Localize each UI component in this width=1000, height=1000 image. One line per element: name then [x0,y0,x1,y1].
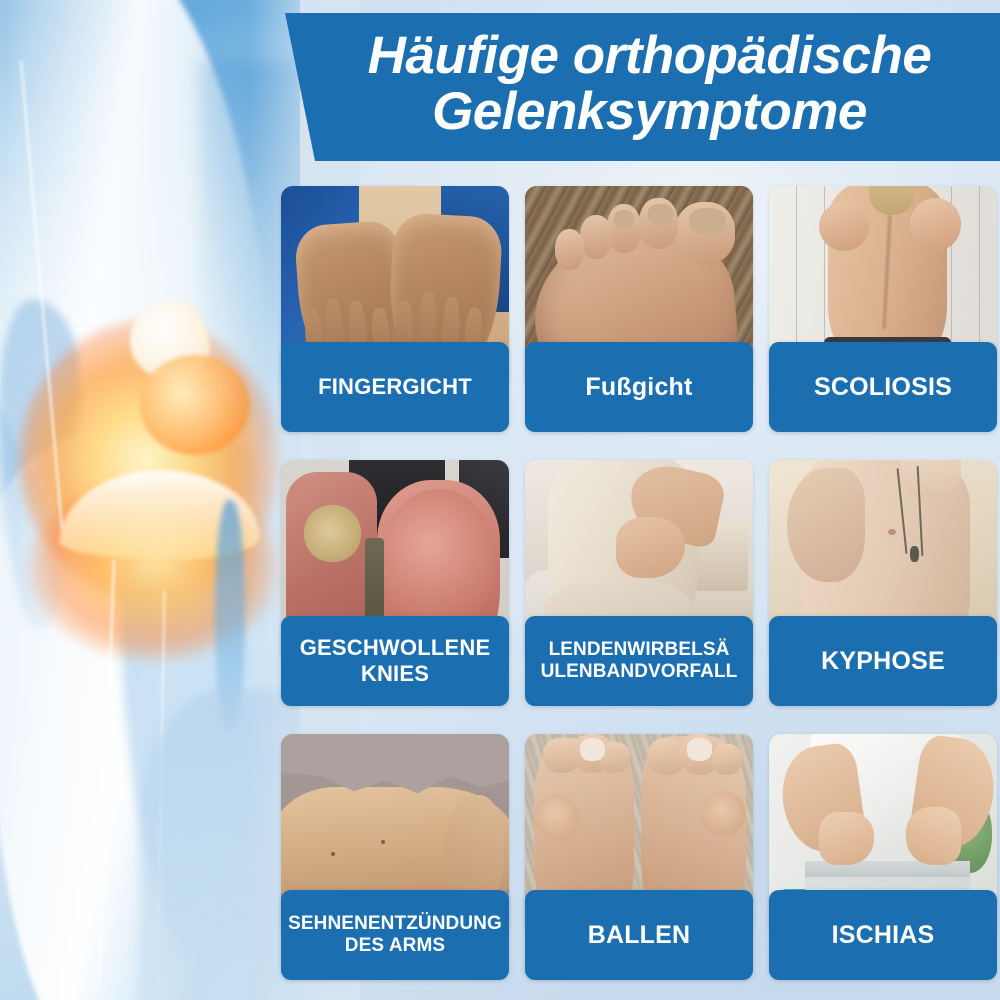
symptom-label-text: SEHNENENTZÜNDUNG DES ARMS [288,913,502,957]
symptom-label-text: SCOLIOSIS [814,373,952,402]
symptom-card-ballen[interactable]: BALLEN [525,734,753,980]
symptom-card-fingergicht[interactable]: FINGERGICHT [281,186,509,432]
symptom-label-text: FINGERGICHT [318,374,472,400]
symptom-card-grid: FINGERGICHT Fußgicht [281,186,997,980]
symptom-label-kyphose: KYPHOSE [769,616,997,706]
symptom-label-ballen: BALLEN [525,890,753,980]
symptom-label-text: ISCHIAS [832,921,935,950]
symptom-label-text: KYPHOSE [821,647,945,676]
symptom-label-text: Fußgicht [585,373,692,402]
symptom-card-geschwollene-knies[interactable]: GESCHWOLLENE KNIES [281,460,509,706]
symptom-card-bandscheibenvorfall[interactable]: LENDENWIRBELSÄ ULENBANDVORFALL [525,460,753,706]
symptom-label-text: BALLEN [588,921,691,950]
symptom-label-ischias: ISCHIAS [769,890,997,980]
symptom-label-scoliosis: SCOLIOSIS [769,342,997,432]
symptom-label-bandscheibenvorfall: LENDENWIRBELSÄ ULENBANDVORFALL [525,616,753,706]
symptom-card-sehnenentzuendung[interactable]: SEHNENENTZÜNDUNG DES ARMS [281,734,509,980]
page-title: Häufige orthopädische Gelenksymptome [368,28,932,140]
symptom-label-fingergicht: FINGERGICHT [281,342,509,432]
orthopedic-symptoms-poster: Häufige orthopädische Gelenksymptome [0,0,1000,1000]
symptom-card-fussgicht[interactable]: Fußgicht [525,186,753,432]
symptom-label-text: GESCHWOLLENE KNIES [300,635,491,686]
symptom-label-fussgicht: Fußgicht [525,342,753,432]
poster-title-banner: Häufige orthopädische Gelenksymptome [283,13,1000,161]
symptom-label-sehnenentzuendung: SEHNENENTZÜNDUNG DES ARMS [281,890,509,980]
symptom-card-kyphose[interactable]: KYPHOSE [769,460,997,706]
symptom-label-text: LENDENWIRBELSÄ ULENBANDVORFALL [541,639,738,683]
symptom-card-scoliosis[interactable]: SCOLIOSIS [769,186,997,432]
symptom-card-ischias[interactable]: ISCHIAS [769,734,997,980]
symptom-label-geschwollene-knies: GESCHWOLLENE KNIES [281,616,509,706]
